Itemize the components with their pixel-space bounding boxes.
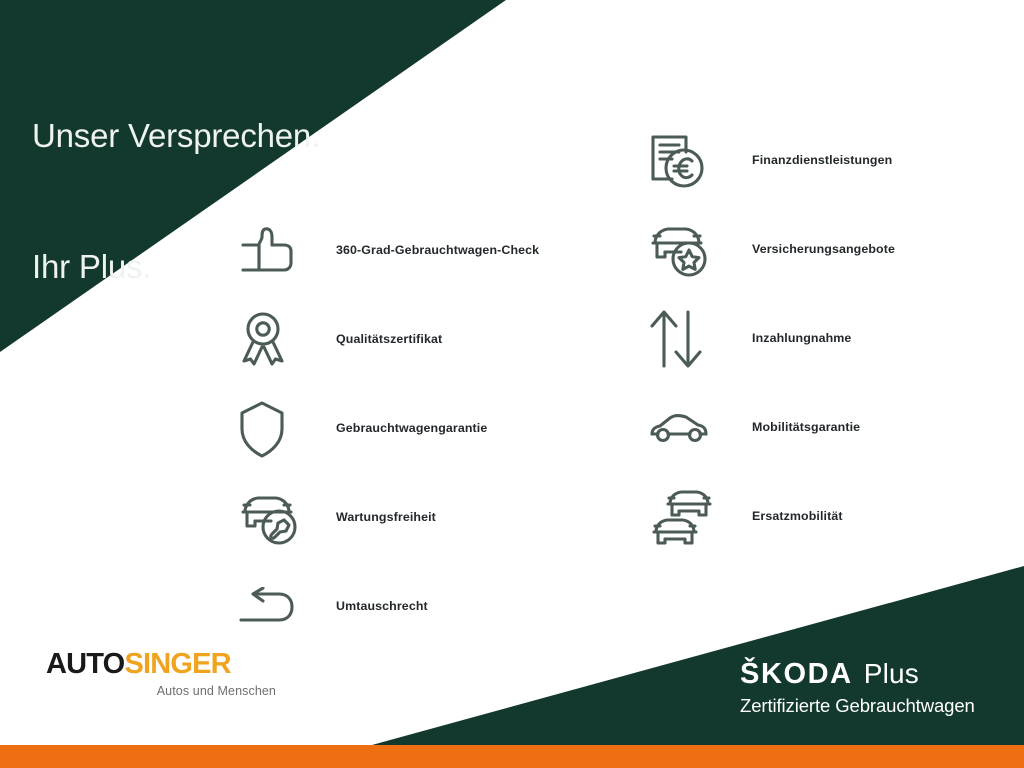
- benefit-label: Inzahlungnahme: [752, 331, 851, 346]
- shield-icon: [238, 395, 314, 463]
- dealer-wordmark-singer: SINGER: [124, 648, 230, 680]
- benefit-label: Versicherungsangebote: [752, 242, 895, 257]
- promo-banner: Unser Versprechen. Ihr Plus. 360-Grad-Ge…: [0, 0, 1024, 768]
- benefit-label: Qualitätszertifikat: [336, 332, 442, 347]
- car-wrench-icon: [238, 484, 314, 552]
- benefit-label: Finanzdienstleistungen: [752, 153, 892, 168]
- benefits-left-column: 360-Grad-Gebrauchtwagen-Check Qualitätsz…: [238, 206, 638, 651]
- car-star-icon: [648, 216, 724, 284]
- brand-logo: ŠKODA Plus Zertifizierte Gebrauchtwagen: [740, 660, 975, 717]
- orange-footer-bar: [0, 745, 1024, 768]
- benefit-label: Gebrauchtwagengarantie: [336, 421, 487, 436]
- benefit-item-360-check: 360-Grad-Gebrauchtwagen-Check: [238, 206, 638, 295]
- benefit-item-exchange-right: Umtauschrecht: [238, 562, 638, 651]
- dealer-tagline: Autos und Menschen: [46, 684, 278, 698]
- car-side-icon: [648, 394, 724, 462]
- dealer-wordmark: AUTOSINGER: [46, 650, 278, 679]
- benefit-label: Ersatzmobilität: [752, 509, 843, 524]
- dealer-wordmark-auto: AUTO: [46, 648, 124, 680]
- brand-logo-row: ŠKODA Plus: [740, 660, 975, 689]
- benefit-item-replacement-mobility: Ersatzmobilität: [648, 472, 1024, 561]
- benefit-item-trade-in: Inzahlungnahme: [648, 294, 1024, 383]
- document-euro-icon: [648, 127, 724, 195]
- return-arrow-icon: [238, 573, 314, 641]
- benefit-label: Umtauschrecht: [336, 599, 428, 614]
- benefit-item-warranty: Gebrauchtwagengarantie: [238, 384, 638, 473]
- benefit-item-maintenance-free: Wartungsfreiheit: [238, 473, 638, 562]
- benefit-item-mobility-guarantee: Mobilitätsgarantie: [648, 383, 1024, 472]
- benefit-item-quality-certificate: Qualitätszertifikat: [238, 295, 638, 384]
- thumbs-up-icon: [238, 217, 314, 285]
- rosette-award-icon: [238, 306, 314, 374]
- benefit-label: 360-Grad-Gebrauchtwagen-Check: [336, 243, 539, 258]
- brand-logo-plus: Plus: [864, 660, 919, 688]
- page-title-line-1: Unser Versprechen.: [32, 114, 320, 158]
- benefit-item-insurance: Versicherungsangebote: [648, 205, 1024, 294]
- up-down-arrows-icon: [648, 305, 724, 373]
- benefit-label: Mobilitätsgarantie: [752, 420, 860, 435]
- two-cars-icon: [648, 483, 724, 551]
- benefits-right-column: Finanzdienstleistungen Versicherungsange…: [648, 116, 1024, 561]
- benefit-item-financial-services: Finanzdienstleistungen: [648, 116, 1024, 205]
- dealer-logo: AUTOSINGER Autos und Menschen: [46, 650, 278, 698]
- benefit-label: Wartungsfreiheit: [336, 510, 436, 525]
- brand-logo-skoda: ŠKODA: [740, 660, 853, 689]
- brand-logo-subtitle: Zertifizierte Gebrauchtwagen: [740, 695, 975, 717]
